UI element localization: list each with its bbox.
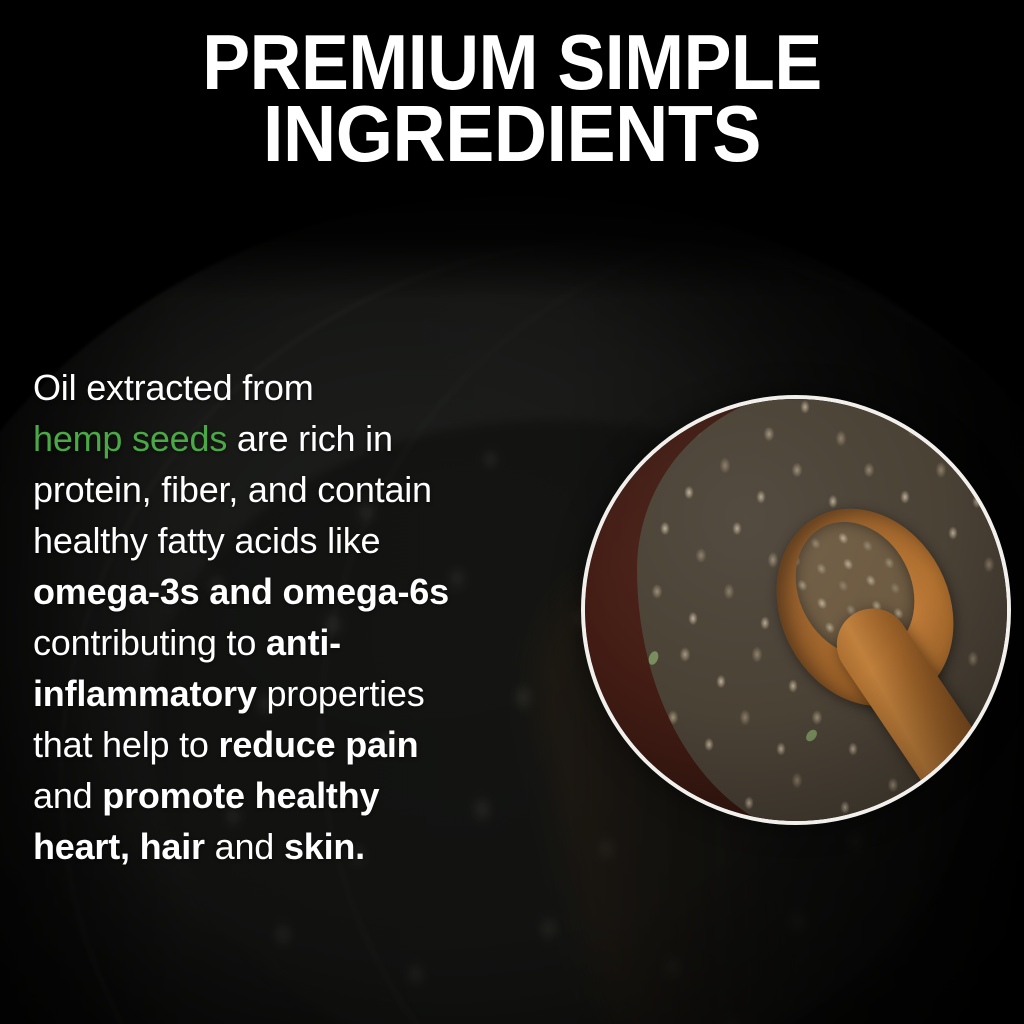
hemp-seeds-accent-text: hemp seeds bbox=[33, 418, 227, 459]
body-text: contributing to bbox=[33, 622, 266, 663]
body-line-3: protein, fiber, and contain bbox=[33, 464, 578, 515]
circle-photo-sheen bbox=[585, 399, 1007, 821]
body-text-bold: omega-3s and omega-6s bbox=[33, 571, 449, 612]
body-line-10: heart, hair and skin. bbox=[33, 821, 578, 872]
headline-line-2: INGREDIENTS bbox=[41, 98, 983, 170]
body-line-2: hemp seeds are rich in bbox=[33, 413, 578, 464]
body-text: Oil extracted from bbox=[33, 367, 313, 408]
hemp-seeds-circle-photo bbox=[581, 395, 1011, 825]
body-text: are rich in bbox=[227, 418, 393, 459]
body-line-5: omega-3s and omega-6s bbox=[33, 566, 578, 617]
headline-line-1: PREMIUM SIMPLE bbox=[41, 26, 983, 98]
body-line-7: inflammatory properties bbox=[33, 668, 578, 719]
body-line-8: that help to reduce pain bbox=[33, 719, 578, 770]
body-text-bold: skin. bbox=[284, 826, 365, 867]
body-text-bold: heart, hair bbox=[33, 826, 205, 867]
promo-graphic-canvas: PREMIUM SIMPLE INGREDIENTS Oil extracted… bbox=[0, 0, 1024, 1024]
body-text: properties bbox=[257, 673, 425, 714]
circle-photo-inner bbox=[585, 399, 1007, 821]
body-copy: Oil extracted from hemp seeds are rich i… bbox=[33, 362, 578, 872]
body-line-4: healthy fatty acids like bbox=[33, 515, 578, 566]
body-text-bold: anti- bbox=[266, 622, 341, 663]
body-text: protein, fiber, and contain bbox=[33, 469, 432, 510]
body-text-bold: reduce pain bbox=[219, 724, 419, 765]
body-line-6: contributing to anti- bbox=[33, 617, 578, 668]
headline: PREMIUM SIMPLE INGREDIENTS bbox=[0, 26, 1024, 170]
body-text-bold: inflammatory bbox=[33, 673, 257, 714]
body-text: that help to bbox=[33, 724, 219, 765]
body-line-9: and promote healthy bbox=[33, 770, 578, 821]
body-text-bold: promote healthy bbox=[102, 775, 379, 816]
body-line-1: Oil extracted from bbox=[33, 362, 578, 413]
body-text: and bbox=[205, 826, 284, 867]
body-text: healthy fatty acids like bbox=[33, 520, 380, 561]
body-text: and bbox=[33, 775, 102, 816]
